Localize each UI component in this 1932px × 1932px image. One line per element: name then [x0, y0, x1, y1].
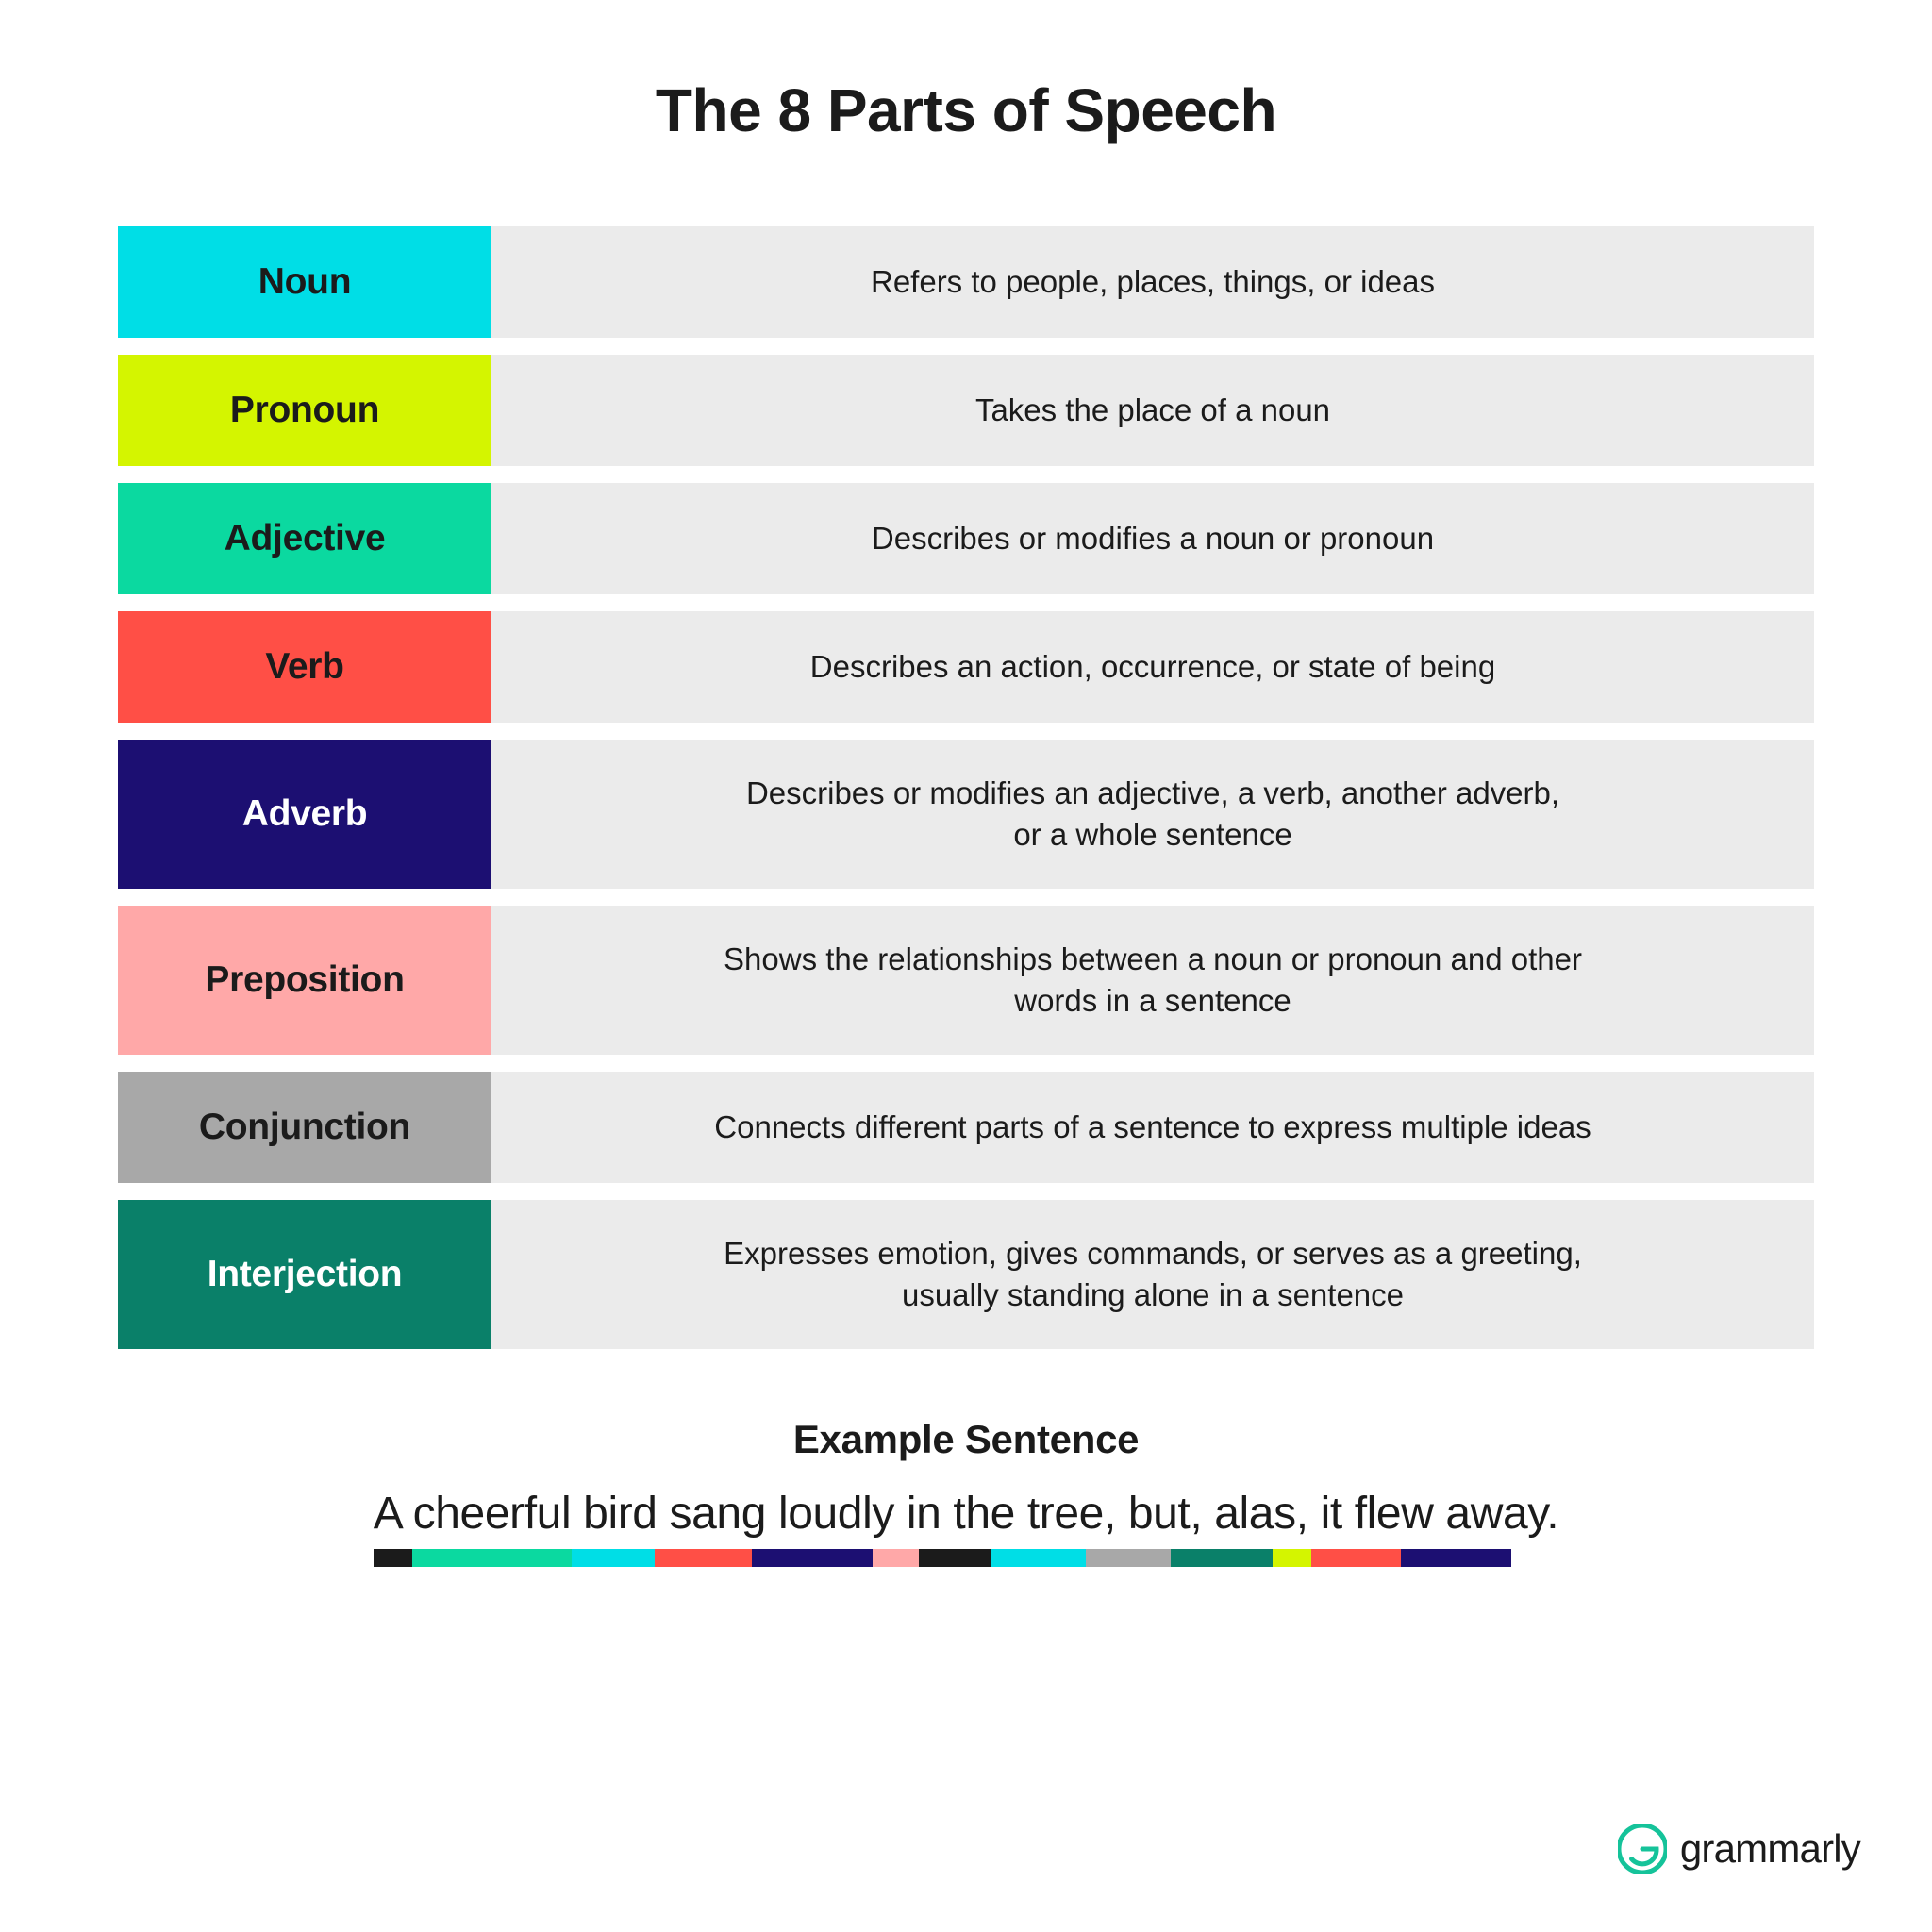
- underline-segment-noun: [991, 1549, 1086, 1567]
- part-of-speech-swatch: Noun: [118, 226, 491, 338]
- table-row: PrepositionShows the relationships betwe…: [118, 906, 1814, 1055]
- part-of-speech-swatch: Pronoun: [118, 355, 491, 466]
- grammarly-wordmark: grammarly: [1680, 1826, 1860, 1872]
- example-sentence: A cheerful bird sang loudly in the tree,…: [374, 1487, 1558, 1541]
- part-of-speech-swatch: Verb: [118, 611, 491, 723]
- underline-segment-article: [374, 1549, 412, 1567]
- underline-segment-conjunction: [1086, 1549, 1171, 1567]
- underline-segment-pronoun: [1273, 1549, 1310, 1567]
- parts-of-speech-table: NounRefers to people, places, things, or…: [118, 143, 1814, 1349]
- underline-segment-preposition: [873, 1549, 919, 1567]
- grammarly-logo[interactable]: grammarly: [1618, 1824, 1860, 1874]
- infographic-page: The 8 Parts of Speech NounRefers to peop…: [0, 0, 1932, 1932]
- underline-segment-adverb: [752, 1549, 873, 1567]
- table-row: PronounTakes the place of a noun: [118, 355, 1814, 466]
- page-title: The 8 Parts of Speech: [0, 0, 1932, 143]
- part-of-speech-description: Describes or modifies a noun or pronoun: [491, 483, 1814, 594]
- example-sentence-wrap: A cheerful bird sang loudly in the tree,…: [374, 1487, 1558, 1567]
- table-row: NounRefers to people, places, things, or…: [118, 226, 1814, 338]
- grammarly-logo-icon: [1618, 1824, 1667, 1874]
- table-row: VerbDescribes an action, occurrence, or …: [118, 611, 1814, 723]
- table-row: AdjectiveDescribes or modifies a noun or…: [118, 483, 1814, 594]
- underline-segment-article: [919, 1549, 991, 1567]
- part-of-speech-description: Describes or modifies an adjective, a ve…: [491, 740, 1814, 889]
- part-of-speech-swatch: Adjective: [118, 483, 491, 594]
- part-of-speech-description: Describes an action, occurrence, or stat…: [491, 611, 1814, 723]
- part-of-speech-description: Shows the relationships between a noun o…: [491, 906, 1814, 1055]
- underline-segment-verb: [655, 1549, 752, 1567]
- part-of-speech-swatch: Preposition: [118, 906, 491, 1055]
- part-of-speech-swatch: Adverb: [118, 740, 491, 889]
- underline-segment-interjection: [1171, 1549, 1273, 1567]
- table-row: InterjectionExpresses emotion, gives com…: [118, 1200, 1814, 1349]
- underline-segment-noun: [572, 1549, 655, 1567]
- example-section: Example Sentence A cheerful bird sang lo…: [0, 1417, 1932, 1572]
- part-of-speech-description: Connects different parts of a sentence t…: [491, 1072, 1814, 1183]
- table-row: ConjunctionConnects different parts of a…: [118, 1072, 1814, 1183]
- part-of-speech-swatch: Conjunction: [118, 1072, 491, 1183]
- underline-segment-adjective: [412, 1549, 571, 1567]
- example-heading: Example Sentence: [0, 1417, 1932, 1462]
- part-of-speech-description: Refers to people, places, things, or ide…: [491, 226, 1814, 338]
- underline-segment-adverb: [1401, 1549, 1511, 1567]
- part-of-speech-description: Expresses emotion, gives commands, or se…: [491, 1200, 1814, 1349]
- part-of-speech-description: Takes the place of a noun: [491, 355, 1814, 466]
- part-of-speech-swatch: Interjection: [118, 1200, 491, 1349]
- color-coded-underline-bar: [374, 1549, 1558, 1567]
- table-row: AdverbDescribes or modifies an adjective…: [118, 740, 1814, 889]
- underline-segment-verb: [1311, 1549, 1401, 1567]
